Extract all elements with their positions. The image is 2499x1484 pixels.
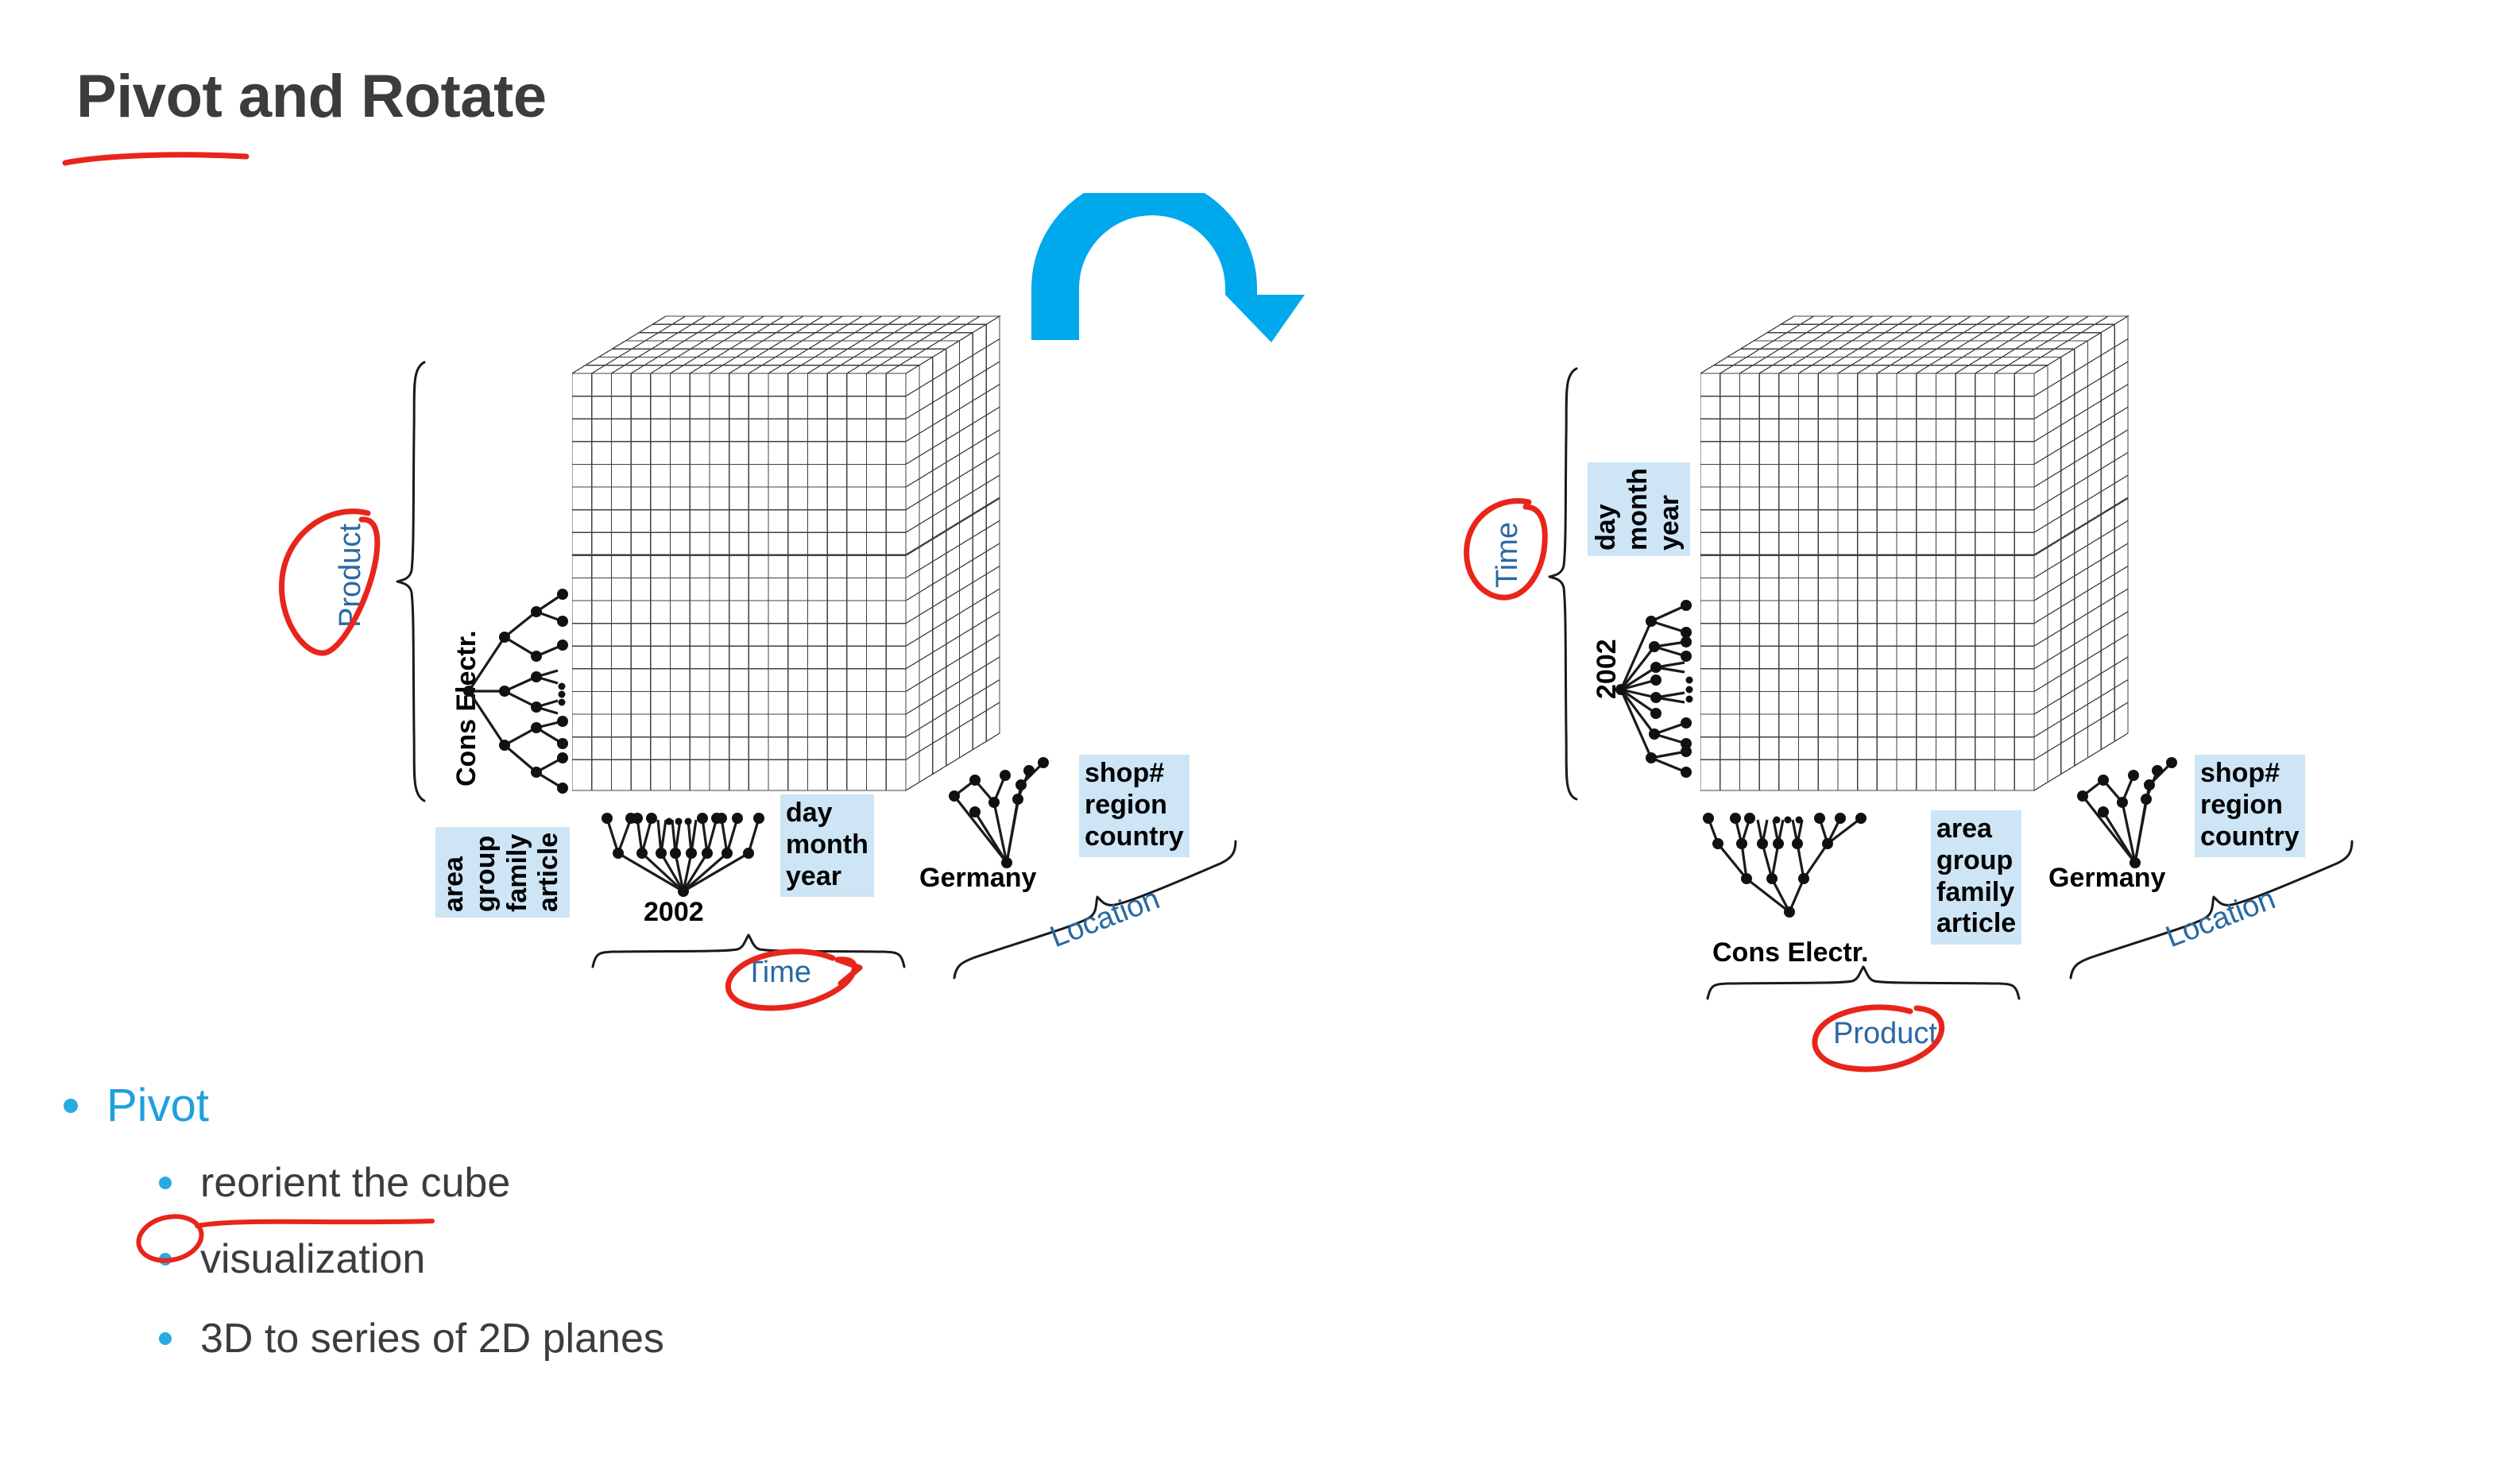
data-cube-wireframe-left	[572, 314, 1065, 798]
member-label-cons-electr-right: Cons Electr.	[1712, 939, 1869, 966]
bullet-reorient-the-cube[interactable]: reorient the cube	[159, 1159, 664, 1207]
dimension-label-product-right: Product	[1833, 1017, 1937, 1051]
title-underline-annotation	[62, 149, 253, 167]
time-hierarchy-tree-icon-left	[596, 804, 771, 899]
bullet-visualization[interactable]: visualization	[159, 1235, 664, 1283]
data-cube-wireframe-right	[1700, 314, 2193, 798]
level-labels-product-left: area group family article	[435, 827, 570, 918]
curved-rotate-arrow-icon	[1025, 193, 1311, 344]
dimension-label-time-right: Time	[1491, 522, 1525, 588]
level-labels-product-right: area group family article	[1931, 810, 2021, 945]
dimension-label-time-left: Time	[745, 956, 811, 990]
time-hierarchy-tree-icon-right	[1613, 597, 1708, 780]
member-label-2002-left: 2002	[644, 899, 704, 926]
bullet-label-pivot: Pivot	[106, 1079, 209, 1132]
bullet-dot-icon	[159, 1332, 172, 1345]
level-labels-time-left: day month year	[780, 794, 874, 897]
product-axis-brace-right	[1704, 965, 2022, 1003]
page-title: Pivot and Rotate	[76, 62, 547, 131]
time-axis-brace-right	[1540, 365, 1588, 802]
product-red-circle-annotation-left	[274, 502, 385, 661]
level-labels-time-right: day month year	[1588, 462, 1690, 556]
bullet-label-reorient: reorient the cube	[200, 1159, 510, 1207]
bullet-dot-icon	[64, 1099, 78, 1113]
reorient-red-underline-annotation	[194, 1213, 440, 1232]
bullet-dot-icon	[159, 1253, 172, 1266]
bullet-label-visualization: visualization	[200, 1235, 425, 1283]
bullet-list: Pivot reorient the cube visualization 3D…	[64, 1079, 664, 1370]
product-hierarchy-tree-icon-right	[1700, 809, 1883, 920]
dimension-label-product-left: Product	[334, 524, 368, 628]
bullet-3d-to-2d-planes[interactable]: 3D to series of 2D planes	[159, 1315, 664, 1362]
bullet-label-3d-to-2d: 3D to series of 2D planes	[200, 1315, 664, 1362]
bullet-pivot[interactable]: Pivot	[64, 1079, 664, 1132]
product-axis-brace-left	[388, 359, 435, 804]
bullet-dot-icon	[159, 1177, 172, 1189]
product-hierarchy-tree-icon-left	[461, 588, 572, 794]
